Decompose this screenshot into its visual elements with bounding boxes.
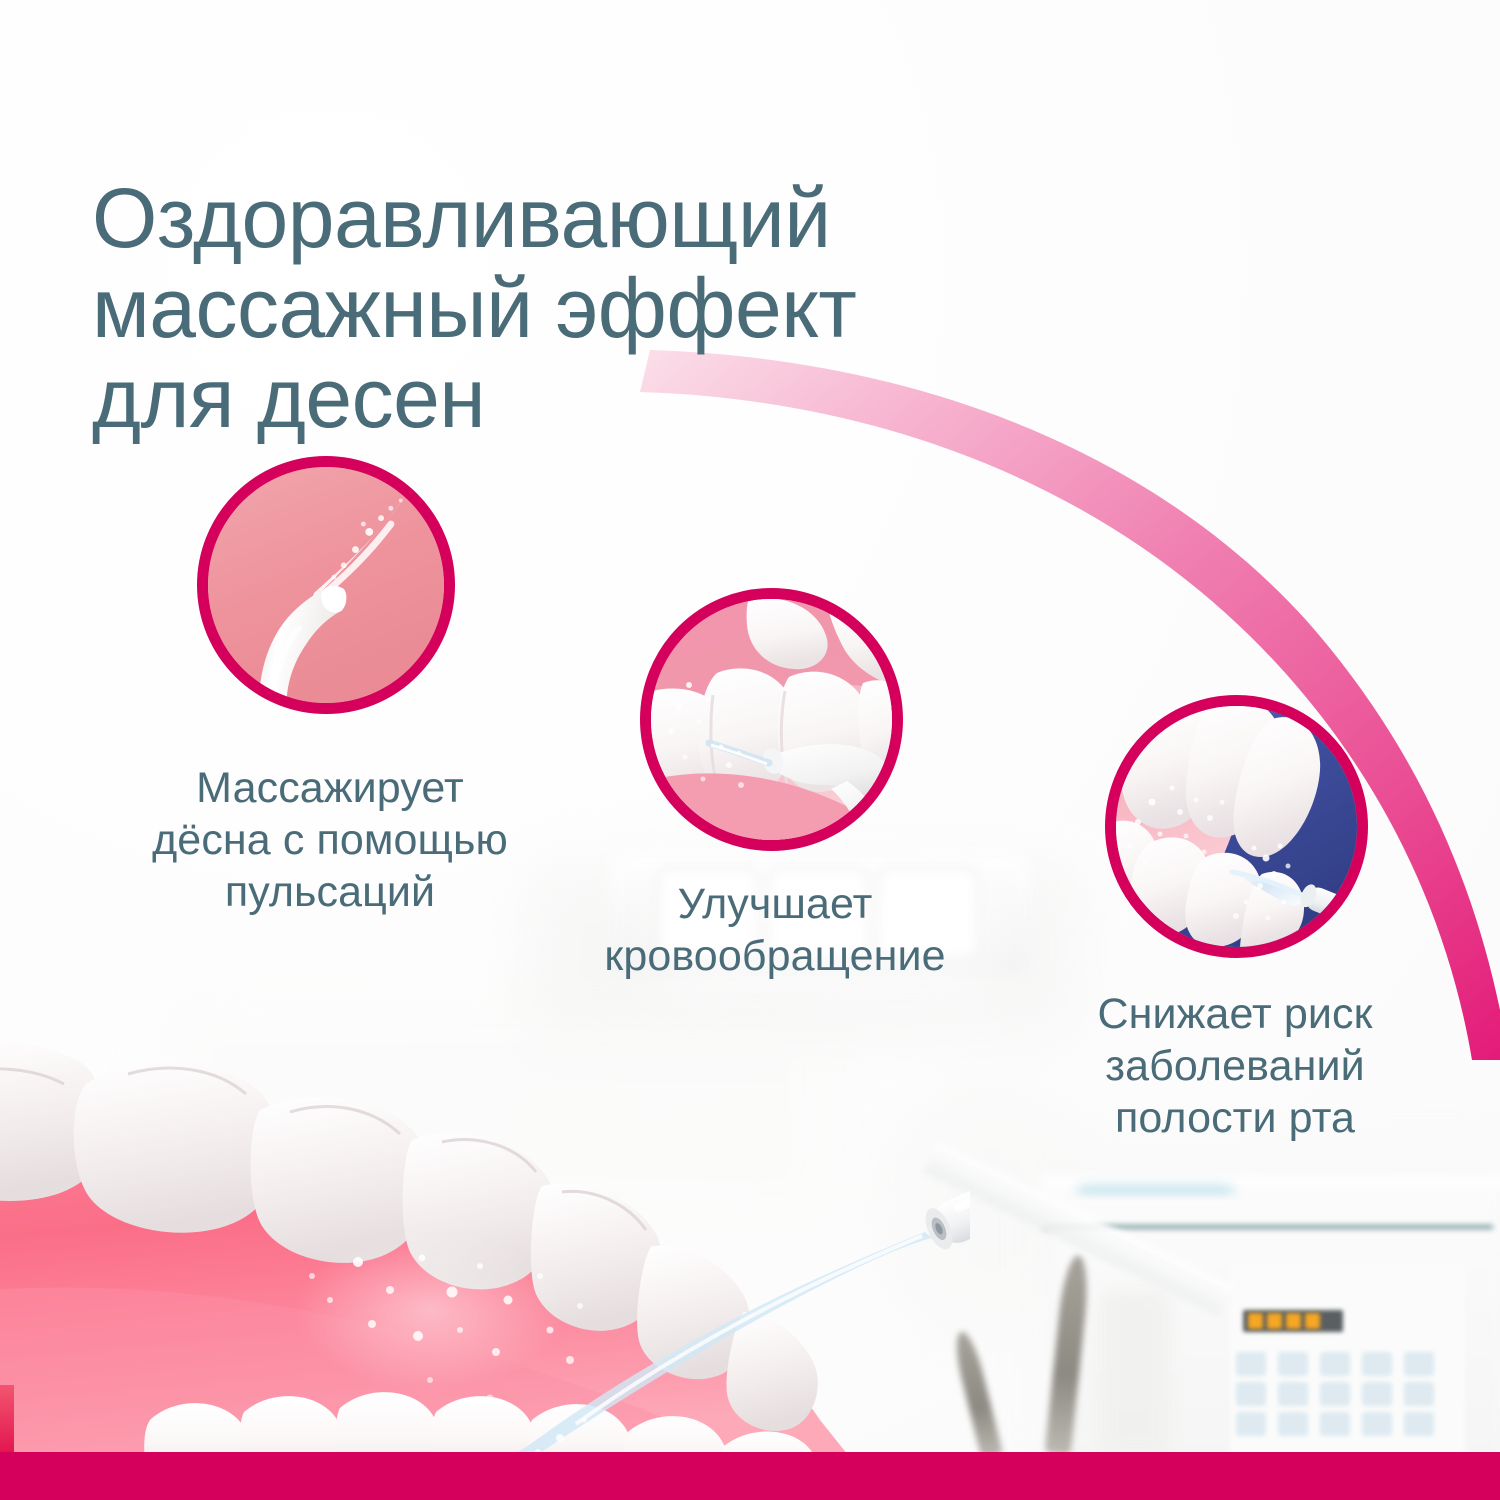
teeth-gums-nozzle-closeup-photo (651, 599, 892, 840)
left-accent-sliver (0, 1385, 14, 1455)
keypad-button (1362, 1352, 1392, 1376)
title-line-3: для десен (92, 354, 1122, 444)
title-line-2: массажный эффект (92, 264, 1122, 354)
keypad-button (1278, 1412, 1308, 1436)
page-title: Оздоравливающий массажный эффект для дес… (92, 174, 1122, 444)
jaw-model-illustration (0, 1000, 970, 1470)
keypad-row (1236, 1382, 1446, 1408)
caption-line: кровообращение (604, 932, 945, 980)
caption-line: заболеваний (1105, 1042, 1364, 1090)
keypad-button (1404, 1412, 1434, 1436)
led-digit (1305, 1313, 1320, 1329)
keypad-button (1236, 1412, 1266, 1436)
caption-line: Улучшает (678, 880, 873, 928)
feature-caption-disease-risk: Снижает риск заболеваний полости рта (1010, 988, 1460, 1144)
teeth-water-spray-blue-bg-photo (1116, 706, 1357, 947)
caption-line: Массажирует (196, 764, 464, 812)
instrument-shadow (1100, 1290, 1170, 1455)
keypad-button (1362, 1412, 1392, 1436)
feature-caption-blood-circulation: Улучшает кровообращение (520, 878, 1030, 982)
title-line-1: Оздоравливающий (92, 174, 1122, 264)
keypad-button (1362, 1382, 1392, 1406)
keypad-button (1404, 1352, 1434, 1376)
irrigator-nozzle-water-jet-photo (208, 467, 444, 703)
feature-circle-pulsation-massage (197, 456, 455, 714)
caption-line: Снижает риск (1097, 990, 1372, 1038)
keypad-button (1278, 1352, 1308, 1376)
feature-caption-pulsation-massage: Массажирует дёсна с помощью пульсаций (60, 762, 600, 918)
feature-circle-blood-circulation (640, 588, 903, 851)
keypad-button (1236, 1382, 1266, 1406)
infographic-canvas: Оздоравливающий массажный эффект для дес… (0, 0, 1500, 1500)
keypad-row (1236, 1352, 1446, 1378)
keypad-button (1236, 1352, 1266, 1376)
keypad-row (1236, 1412, 1446, 1438)
caption-line: полости рта (1115, 1094, 1355, 1142)
keypad-button (1404, 1382, 1434, 1406)
led-digit (1267, 1313, 1282, 1329)
caption-line: дёсна с помощью (152, 816, 508, 864)
led-digit (1286, 1313, 1301, 1329)
feature-circle-disease-risk (1105, 695, 1368, 958)
keypad-button (1320, 1382, 1350, 1406)
led-digit (1248, 1313, 1263, 1329)
keypad-button (1320, 1352, 1350, 1376)
bottom-accent-bar (0, 1452, 1500, 1500)
keypad-button (1278, 1382, 1308, 1406)
keypad-button (1320, 1412, 1350, 1436)
caption-line: пульсаций (225, 868, 435, 916)
